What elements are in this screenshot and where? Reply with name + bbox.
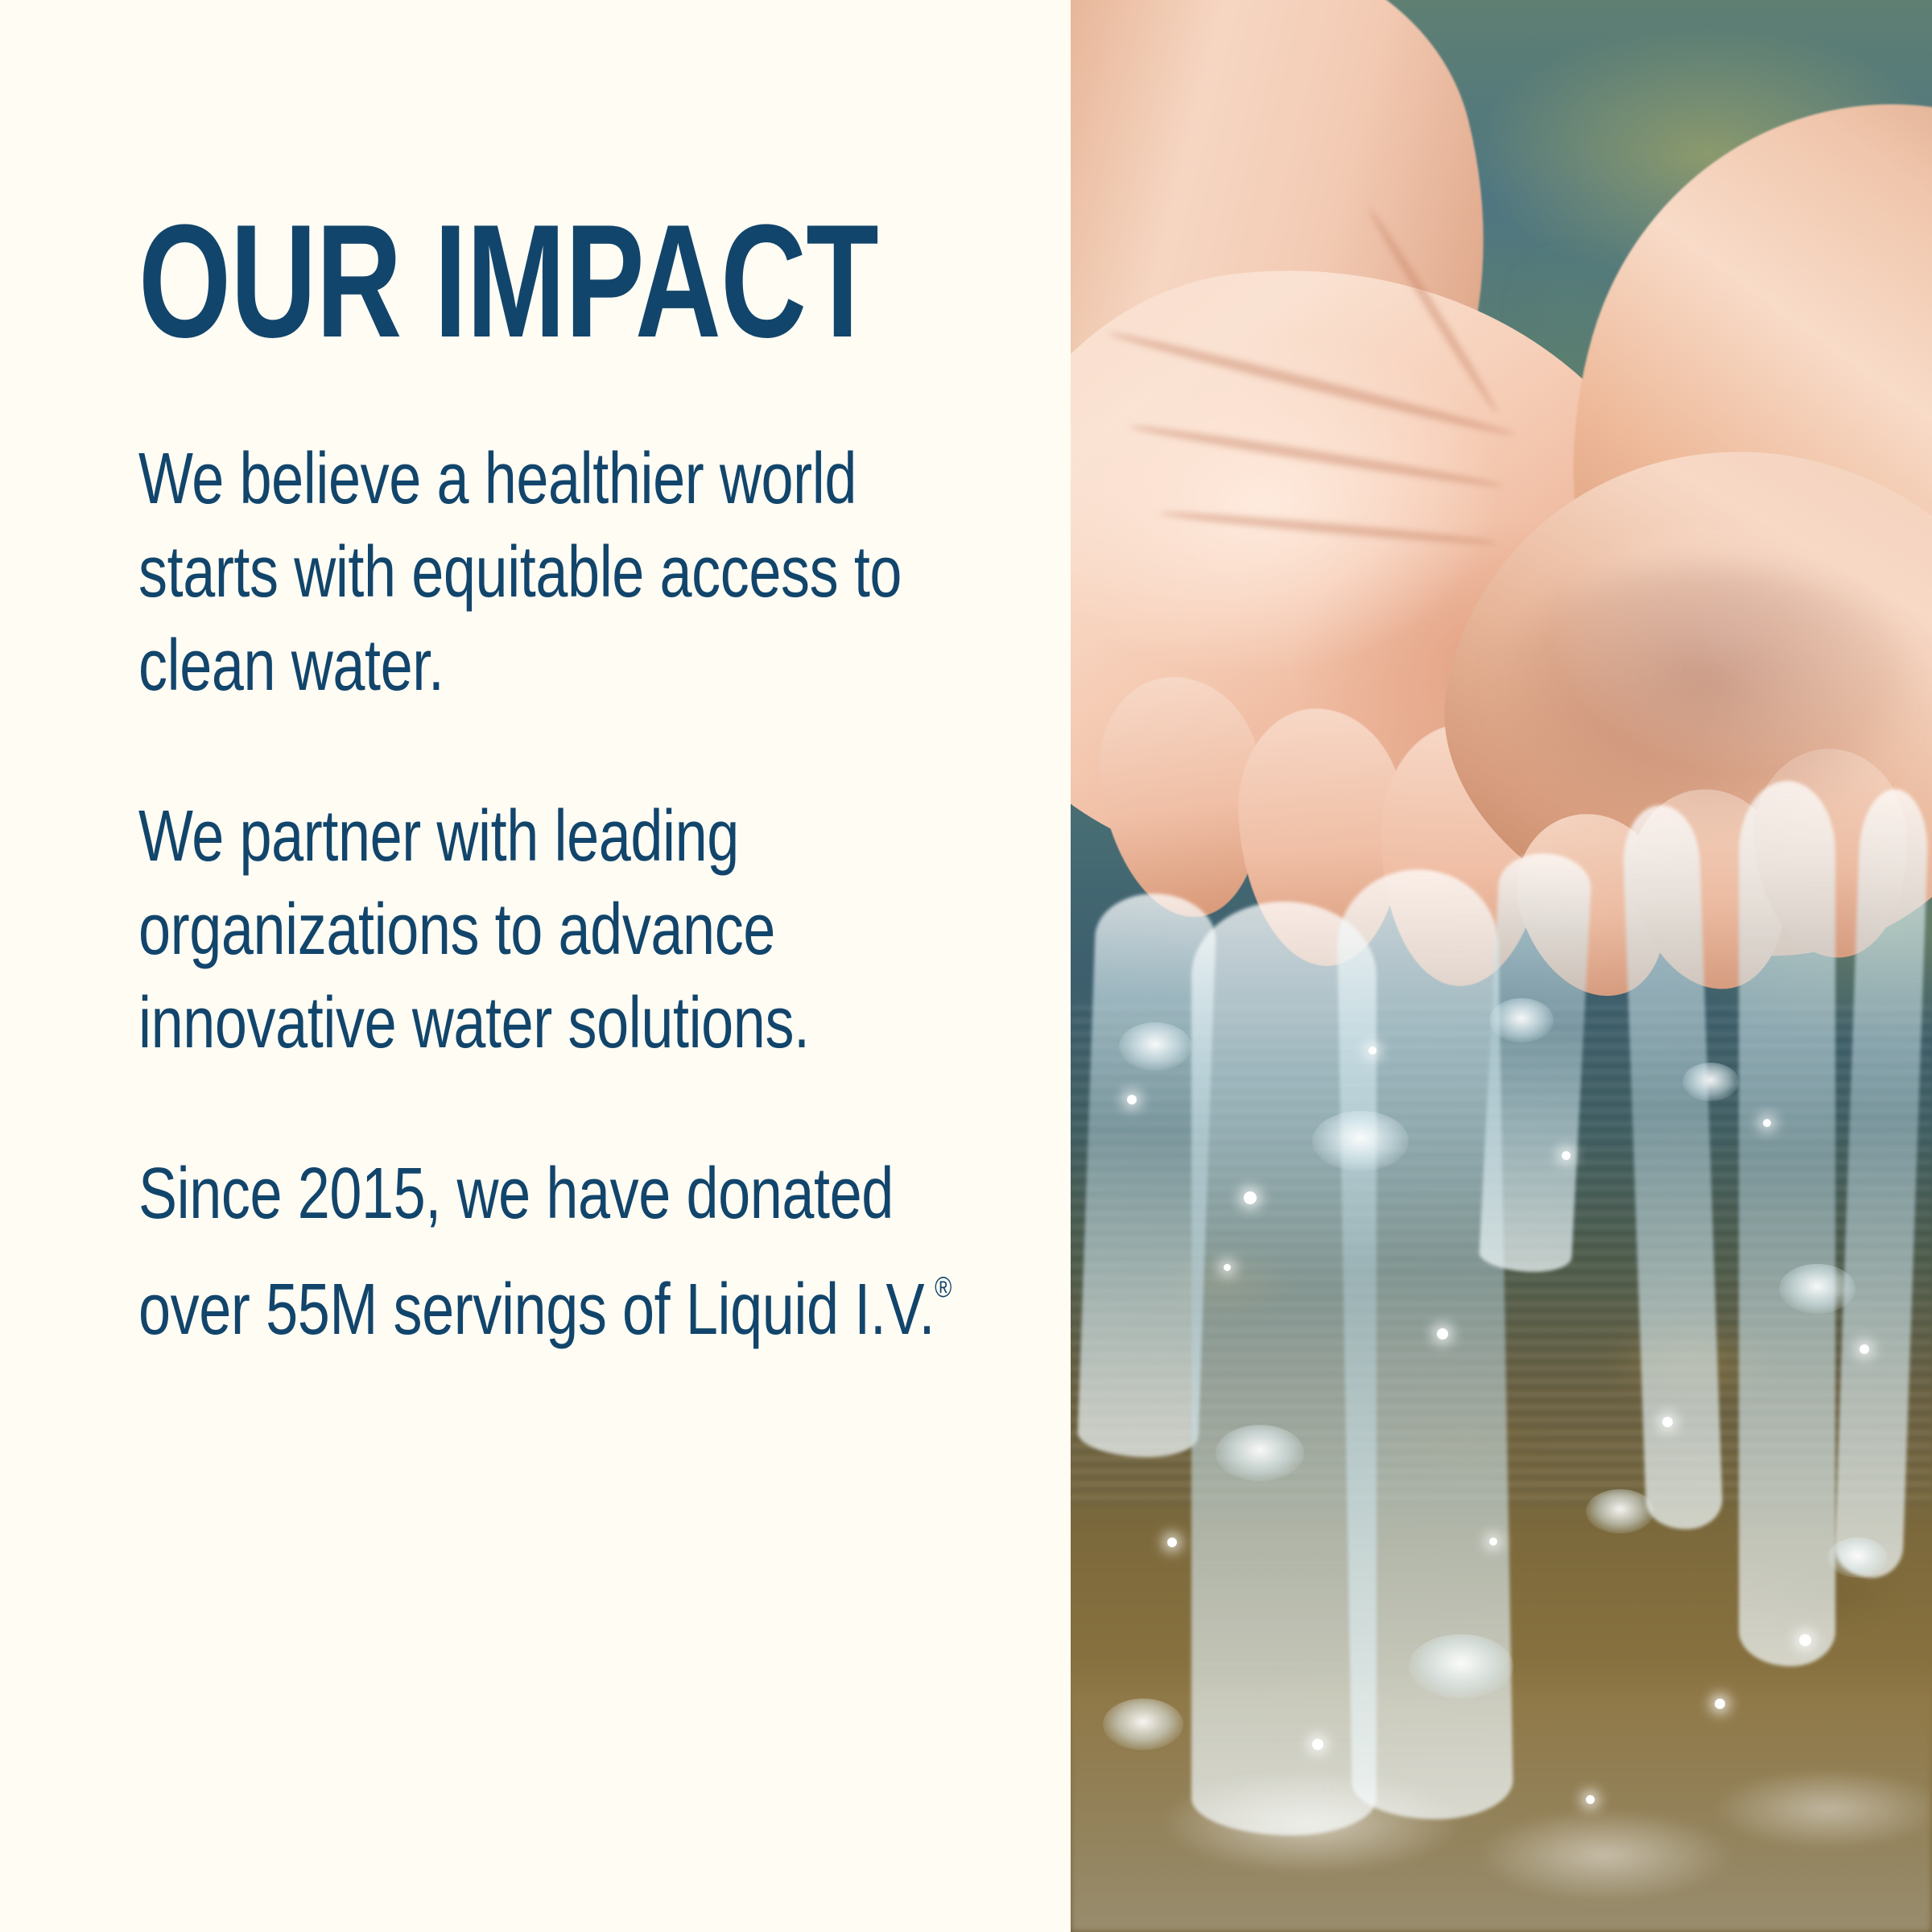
water-sparkle: [1224, 1264, 1231, 1271]
water-droplet: [1827, 1538, 1888, 1578]
water-sparkle: [1368, 1046, 1377, 1055]
water-sparkle: [1763, 1119, 1771, 1127]
water-surface-splash: [1071, 1658, 1932, 1932]
water-droplet: [1312, 1111, 1409, 1171]
water-droplet: [1586, 1489, 1654, 1534]
text-panel: OUR IMPACT We believe a healthier world …: [0, 0, 1071, 1932]
water-sparkle: [1662, 1417, 1673, 1427]
registered-trademark-icon: ®: [935, 1270, 952, 1303]
paragraph-belief: We believe a healthier world starts with…: [138, 432, 989, 712]
water-sparkle: [1167, 1538, 1177, 1547]
water-droplet: [1119, 1022, 1191, 1071]
water-stream: [1739, 781, 1835, 1666]
water-sparkle: [1715, 1699, 1725, 1709]
water-sparkle: [1127, 1095, 1137, 1104]
water-sparkle: [1489, 1538, 1497, 1546]
water-droplet: [1216, 1425, 1304, 1481]
paragraph-donations: Since 2015, we have donated over 55M ser…: [138, 1147, 989, 1356]
water-sparkle: [1799, 1634, 1811, 1646]
donations-text: Since 2015, we have donated over 55M ser…: [138, 1154, 935, 1350]
water-sparkle: [1437, 1328, 1448, 1340]
water-sparkle: [1312, 1739, 1323, 1750]
water-droplet: [1489, 998, 1554, 1042]
photo-panel: [1071, 0, 1932, 1932]
water-droplet: [1779, 1264, 1856, 1314]
water-sparkle: [1586, 1795, 1595, 1804]
page-title: OUR IMPACT: [138, 205, 770, 358]
impact-slide: OUR IMPACT We believe a healthier world …: [0, 0, 1932, 1932]
water-sparkle: [1860, 1344, 1869, 1354]
paragraph-partnership: We partner with leading organizations to…: [138, 790, 989, 1070]
water-sparkle: [1562, 1151, 1571, 1160]
palm-shadow: [1489, 563, 1924, 837]
falling-water: [1071, 926, 1932, 1932]
body-copy: We believe a healthier world starts with…: [138, 432, 992, 1356]
water-sparkle: [1244, 1191, 1257, 1204]
water-droplet: [1682, 1063, 1739, 1101]
text-panel-inner: OUR IMPACT We believe a healthier world …: [138, 205, 992, 1356]
